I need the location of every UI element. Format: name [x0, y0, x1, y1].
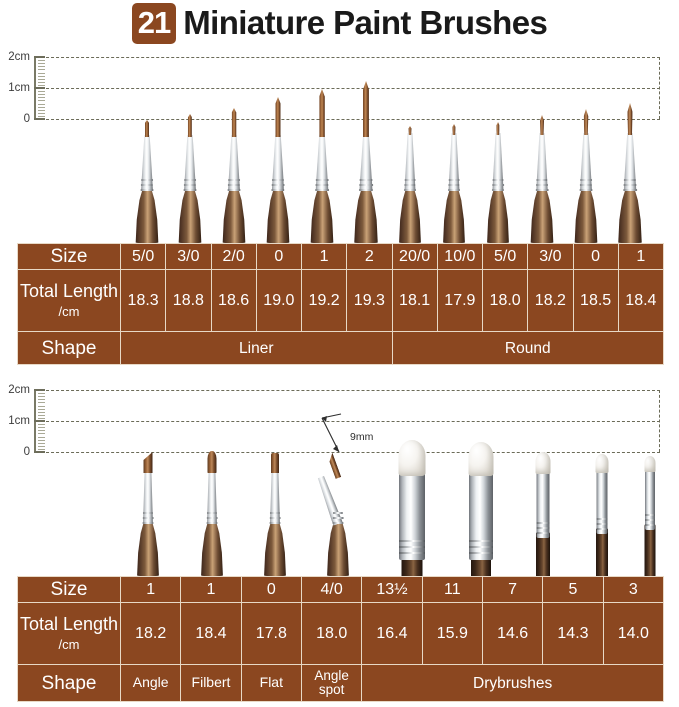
brush-round-5-0: [481, 119, 515, 243]
brush-round-1: [613, 119, 647, 243]
ruler-minor-tick: [38, 440, 45, 441]
table-cell-shape-filbert: Filbert: [181, 665, 241, 702]
ruler-minor-tick: [38, 433, 45, 434]
table-row-length: Total Length /cm 18.3 18.8 18.6 19.0 19.…: [18, 270, 664, 332]
ruler-label-1cm: 1cm: [8, 82, 30, 94]
table-row-size: Size 1 1 0 4/0 13½ 11 7 5 3: [18, 577, 664, 603]
ruler-label-2cm: 2cm: [8, 384, 30, 396]
brush-liner-3-0: [173, 119, 207, 243]
row-label-shape: Shape: [18, 665, 121, 702]
ruler-label-2cm: 2cm: [8, 51, 30, 63]
row-label-length-unit: /cm: [59, 637, 80, 652]
table-cell-size: 0: [573, 244, 618, 270]
brush-liner-2-0: [217, 119, 251, 243]
table-cell-length: 15.9: [422, 603, 482, 665]
table-cell-size: 1: [181, 577, 241, 603]
ruler-minor-tick: [38, 104, 45, 105]
table-row-size: Size 5/0 3/0 2/0 0 1 2 20/0 10/0 5/0 3/0…: [18, 244, 664, 270]
ruler-bracket-right: [659, 57, 660, 119]
table-cell-length: 17.8: [241, 603, 301, 665]
ruler-minor-tick: [38, 116, 45, 117]
brush-flat-0: [258, 452, 292, 576]
table-cell-size: 1: [618, 244, 663, 270]
ruler-minor-tick: [38, 402, 45, 403]
row-label-shape: Shape: [18, 332, 121, 365]
ruler-minor-tick: [38, 446, 45, 447]
table-cell-size: 5/0: [483, 244, 528, 270]
brush-filbert-1: [195, 452, 229, 576]
table-cell-size: 3: [603, 577, 663, 603]
ruler-minor-tick: [38, 110, 45, 111]
table-cell-length: 18.4: [181, 603, 241, 665]
brush-drybrush-7: [526, 452, 560, 576]
table-row-length: Total Length /cm 18.2 18.4 17.8 18.0 16.…: [18, 603, 664, 665]
table-cell-length: 19.2: [302, 270, 347, 332]
table-cell-size: 0: [241, 577, 301, 603]
ruler-gridline-1cm: [36, 88, 660, 89]
table-cell-size: 4/0: [301, 577, 361, 603]
table-cell-size: 13½: [362, 577, 422, 603]
brush-liner-2: [349, 119, 383, 243]
table-cell-size: 2: [347, 244, 392, 270]
ruler-minor-tick: [38, 60, 45, 61]
table-cell-length: 14.6: [482, 603, 542, 665]
table-cell-length: 16.4: [362, 603, 422, 665]
ruler-minor-tick: [38, 73, 45, 74]
ruler-gridline-2cm: [36, 390, 660, 391]
ruler-minor-tick: [38, 91, 45, 92]
table-cell-length: 19.0: [256, 270, 301, 332]
table-cell-length: 19.3: [347, 270, 392, 332]
annotation-9mm-arrow: [316, 412, 356, 458]
ruler-minor-tick: [38, 396, 45, 397]
brush-drybrush-3: [635, 452, 665, 576]
row-label-size: Size: [18, 577, 121, 603]
ruler-minor-tick: [38, 430, 45, 431]
table-cell-length: 18.2: [121, 603, 181, 665]
table-cell-length: 18.1: [392, 270, 437, 332]
ruler-minor-tick: [38, 113, 45, 114]
brush-row-liner-round: [0, 119, 679, 243]
ruler-minor-tick: [38, 418, 45, 419]
ruler-minor-tick: [38, 69, 45, 70]
ruler-minor-tick: [38, 85, 45, 86]
table-row-shape: Shape Liner Round: [18, 332, 664, 365]
ruler-minor-tick: [38, 424, 45, 425]
table-cell-size: 20/0: [392, 244, 437, 270]
brush-angle-1: [131, 452, 165, 576]
table-cell-shape-angle: Angle: [121, 665, 181, 702]
ruler-top: 2cm 1cm 0: [0, 57, 660, 119]
ruler-minor-tick: [38, 409, 45, 410]
table-cell-size: 10/0: [437, 244, 482, 270]
table-cell-length: 14.3: [543, 603, 603, 665]
ruler-minor-tick: [38, 107, 45, 108]
spec-table-shapes-drybrush: Size 1 1 0 4/0 13½ 11 7 5 3 Total Length…: [17, 576, 664, 702]
brush-drybrush-11: [459, 452, 503, 576]
ruler-minor-tick: [38, 100, 45, 101]
table-cell-length: 18.6: [211, 270, 256, 332]
ruler-label-1cm: 1cm: [8, 415, 30, 427]
ruler-minor-tick: [38, 63, 45, 64]
ruler-minor-tick: [38, 406, 45, 407]
table-cell-size: 3/0: [166, 244, 211, 270]
ruler-minor-tick: [38, 427, 45, 428]
brush-angle-spot-4-0: [318, 452, 358, 576]
row-label-total-length: Total Length /cm: [18, 270, 121, 332]
brush-row-shapes-drybrush: 9mm: [0, 452, 679, 576]
ruler-minor-tick: [38, 415, 45, 416]
table-cell-shape-flat: Flat: [241, 665, 301, 702]
brush-round-0: [569, 119, 603, 243]
infographic-page: 21 Miniature Paint Brushes 2cm 1cm 0: [0, 0, 679, 707]
brush-round-20-0: [393, 119, 427, 243]
table-cell-size: 1: [121, 577, 181, 603]
page-title: 21 Miniature Paint Brushes: [0, 0, 679, 47]
table-cell-size: 7: [482, 577, 542, 603]
table-cell-size: 1: [302, 244, 347, 270]
row-label-length-unit: /cm: [59, 304, 80, 319]
table-cell-length: 18.0: [483, 270, 528, 332]
brush-liner-1: [305, 119, 339, 243]
table-cell-length: 18.2: [528, 270, 573, 332]
ruler-minor-tick: [38, 76, 45, 77]
ruler-bracket-right: [659, 390, 660, 452]
ruler-minor-tick: [38, 443, 45, 444]
table-cell-size: 3/0: [528, 244, 573, 270]
table-cell-size: 5/0: [121, 244, 166, 270]
table-cell-shape-drybrushes: Drybrushes: [362, 665, 664, 702]
brush-liner-5-0: [130, 119, 164, 243]
table-cell-size: 0: [256, 244, 301, 270]
ruler-minor-tick: [38, 437, 45, 438]
ruler-minor-tick: [38, 97, 45, 98]
brush-drybrush-13-half: [389, 452, 435, 576]
table-cell-size: 2/0: [211, 244, 256, 270]
table-cell-shape-angle-spot: Anglespot: [301, 665, 361, 702]
table-cell-length: 18.5: [573, 270, 618, 332]
ruler-minor-tick: [38, 399, 45, 400]
table-cell-size: 5: [543, 577, 603, 603]
ruler-minor-tick: [38, 82, 45, 83]
row-label-total-length: Total Length /cm: [18, 603, 121, 665]
ruler-minor-tick: [38, 79, 45, 80]
table-cell-length: 18.3: [121, 270, 166, 332]
ruler-minor-tick: [38, 412, 45, 413]
row-label-total-length-text: Total Length: [20, 614, 118, 634]
ruler-minor-tick: [38, 449, 45, 450]
ruler-minor-tick: [38, 66, 45, 67]
row-label-size: Size: [18, 244, 121, 270]
title-text: Miniature Paint Brushes: [183, 6, 547, 42]
brush-liner-0: [261, 119, 295, 243]
row-label-total-length-text: Total Length: [20, 281, 118, 301]
table-cell-length: 18.4: [618, 270, 663, 332]
table-cell-length: 17.9: [437, 270, 482, 332]
brush-round-3-0: [525, 119, 559, 243]
ruler-minor-tick: [38, 393, 45, 394]
ruler-gridline-2cm: [36, 57, 660, 58]
spec-table-liner-round: Size 5/0 3/0 2/0 0 1 2 20/0 10/0 5/0 3/0…: [17, 243, 664, 365]
table-cell-shape-round: Round: [392, 332, 664, 365]
brush-round-10-0: [437, 119, 471, 243]
brush-count-badge: 21: [132, 3, 176, 44]
table-cell-length: 18.8: [166, 270, 211, 332]
ruler-minor-tick: [38, 94, 45, 95]
table-cell-size: 11: [422, 577, 482, 603]
table-row-shape: Shape Angle Filbert Flat Anglespot Drybr…: [18, 665, 664, 702]
table-cell-length: 18.0: [301, 603, 361, 665]
brush-drybrush-5: [586, 452, 618, 576]
table-cell-shape-liner: Liner: [121, 332, 393, 365]
table-cell-length: 14.0: [603, 603, 663, 665]
